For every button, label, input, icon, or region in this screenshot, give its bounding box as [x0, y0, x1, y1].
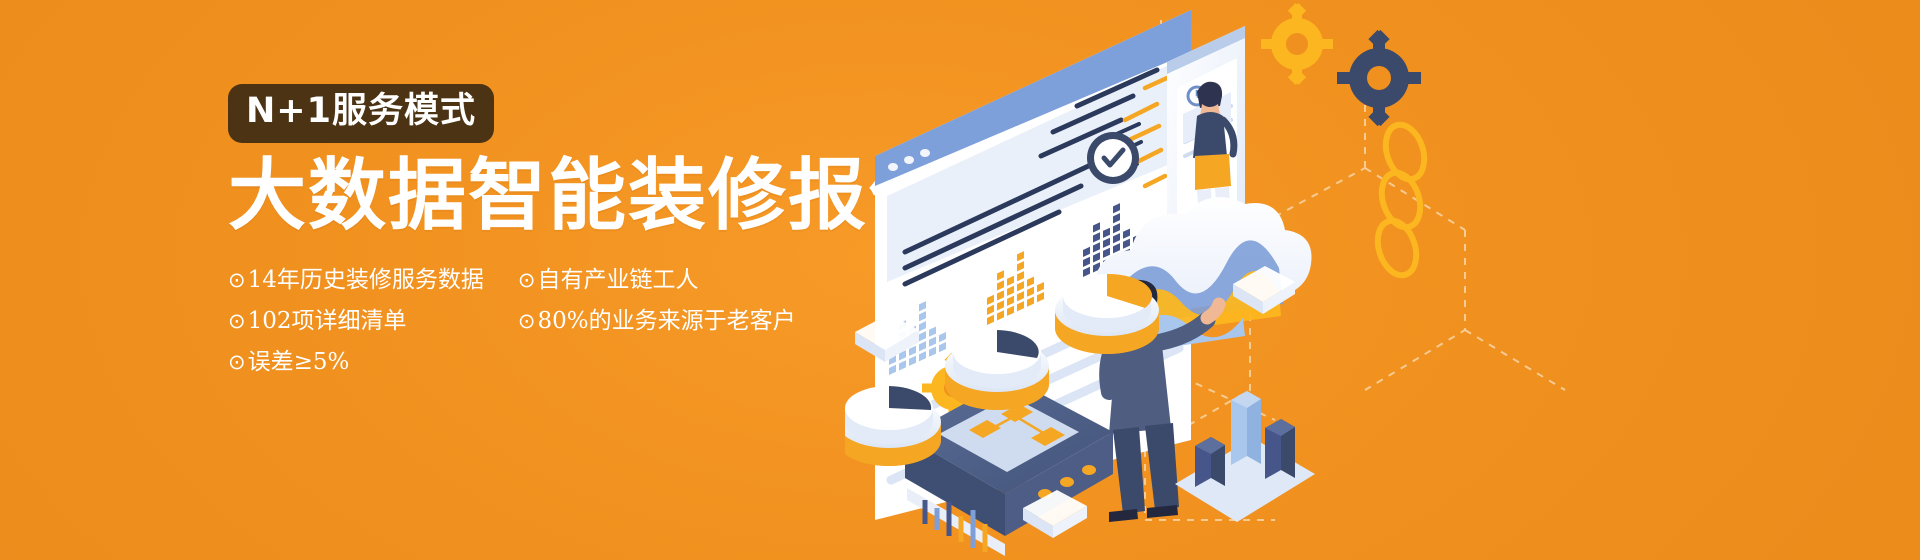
list-item: ⊙ 80%的业务来源于老客户 — [518, 308, 796, 334]
banner-copy: N+1服务模式 大数据智能装修报价 ⊙ 14年历史装修服务数据 ⊙ 102项详细… — [228, 84, 948, 376]
check-badge — [1087, 132, 1139, 184]
page-title: 大数据智能装修报价 — [228, 157, 948, 237]
list-item: ⊙ 14年历史装修服务数据 — [228, 267, 484, 293]
list-item-label: 102项详细清单 — [248, 308, 407, 334]
bullet-dot-icon: ⊙ — [518, 309, 536, 333]
list-item: ⊙ 误差≥5% — [228, 349, 484, 375]
feature-column-right: ⊙ 自有产业链工人 ⊙ 80%的业务来源于老客户 — [518, 267, 796, 335]
promo-banner: N+1服务模式 大数据智能装修报价 ⊙ 14年历史装修服务数据 ⊙ 102项详细… — [0, 0, 1920, 560]
feature-list: ⊙ 14年历史装修服务数据 ⊙ 102项详细清单 ⊙ 误差≥5% ⊙ 自有产业链… — [228, 267, 948, 376]
bullet-dot-icon: ⊙ — [518, 268, 536, 292]
list-item: ⊙ 自有产业链工人 — [518, 267, 796, 293]
bullet-dot-icon: ⊙ — [228, 309, 246, 333]
bullet-dot-icon: ⊙ — [228, 350, 246, 374]
bullet-dot-icon: ⊙ — [228, 268, 246, 292]
list-item-label: 14年历史装修服务数据 — [248, 267, 484, 293]
list-item-label: 80%的业务来源于老客户 — [538, 308, 796, 334]
list-item-label: 误差≥5% — [248, 349, 350, 375]
list-item: ⊙ 102项详细清单 — [228, 308, 484, 334]
feature-column-left: ⊙ 14年历史装修服务数据 ⊙ 102项详细清单 ⊙ 误差≥5% — [228, 267, 484, 376]
list-item-label: 自有产业链工人 — [538, 267, 699, 293]
big-data-isometric-illustration — [845, 0, 1920, 560]
service-mode-badge: N+1服务模式 — [228, 84, 494, 143]
bar-column-group — [1175, 391, 1315, 522]
gear-orange — [1261, 3, 1333, 85]
gear-navy — [1337, 30, 1421, 126]
ring-stack — [1371, 120, 1431, 280]
